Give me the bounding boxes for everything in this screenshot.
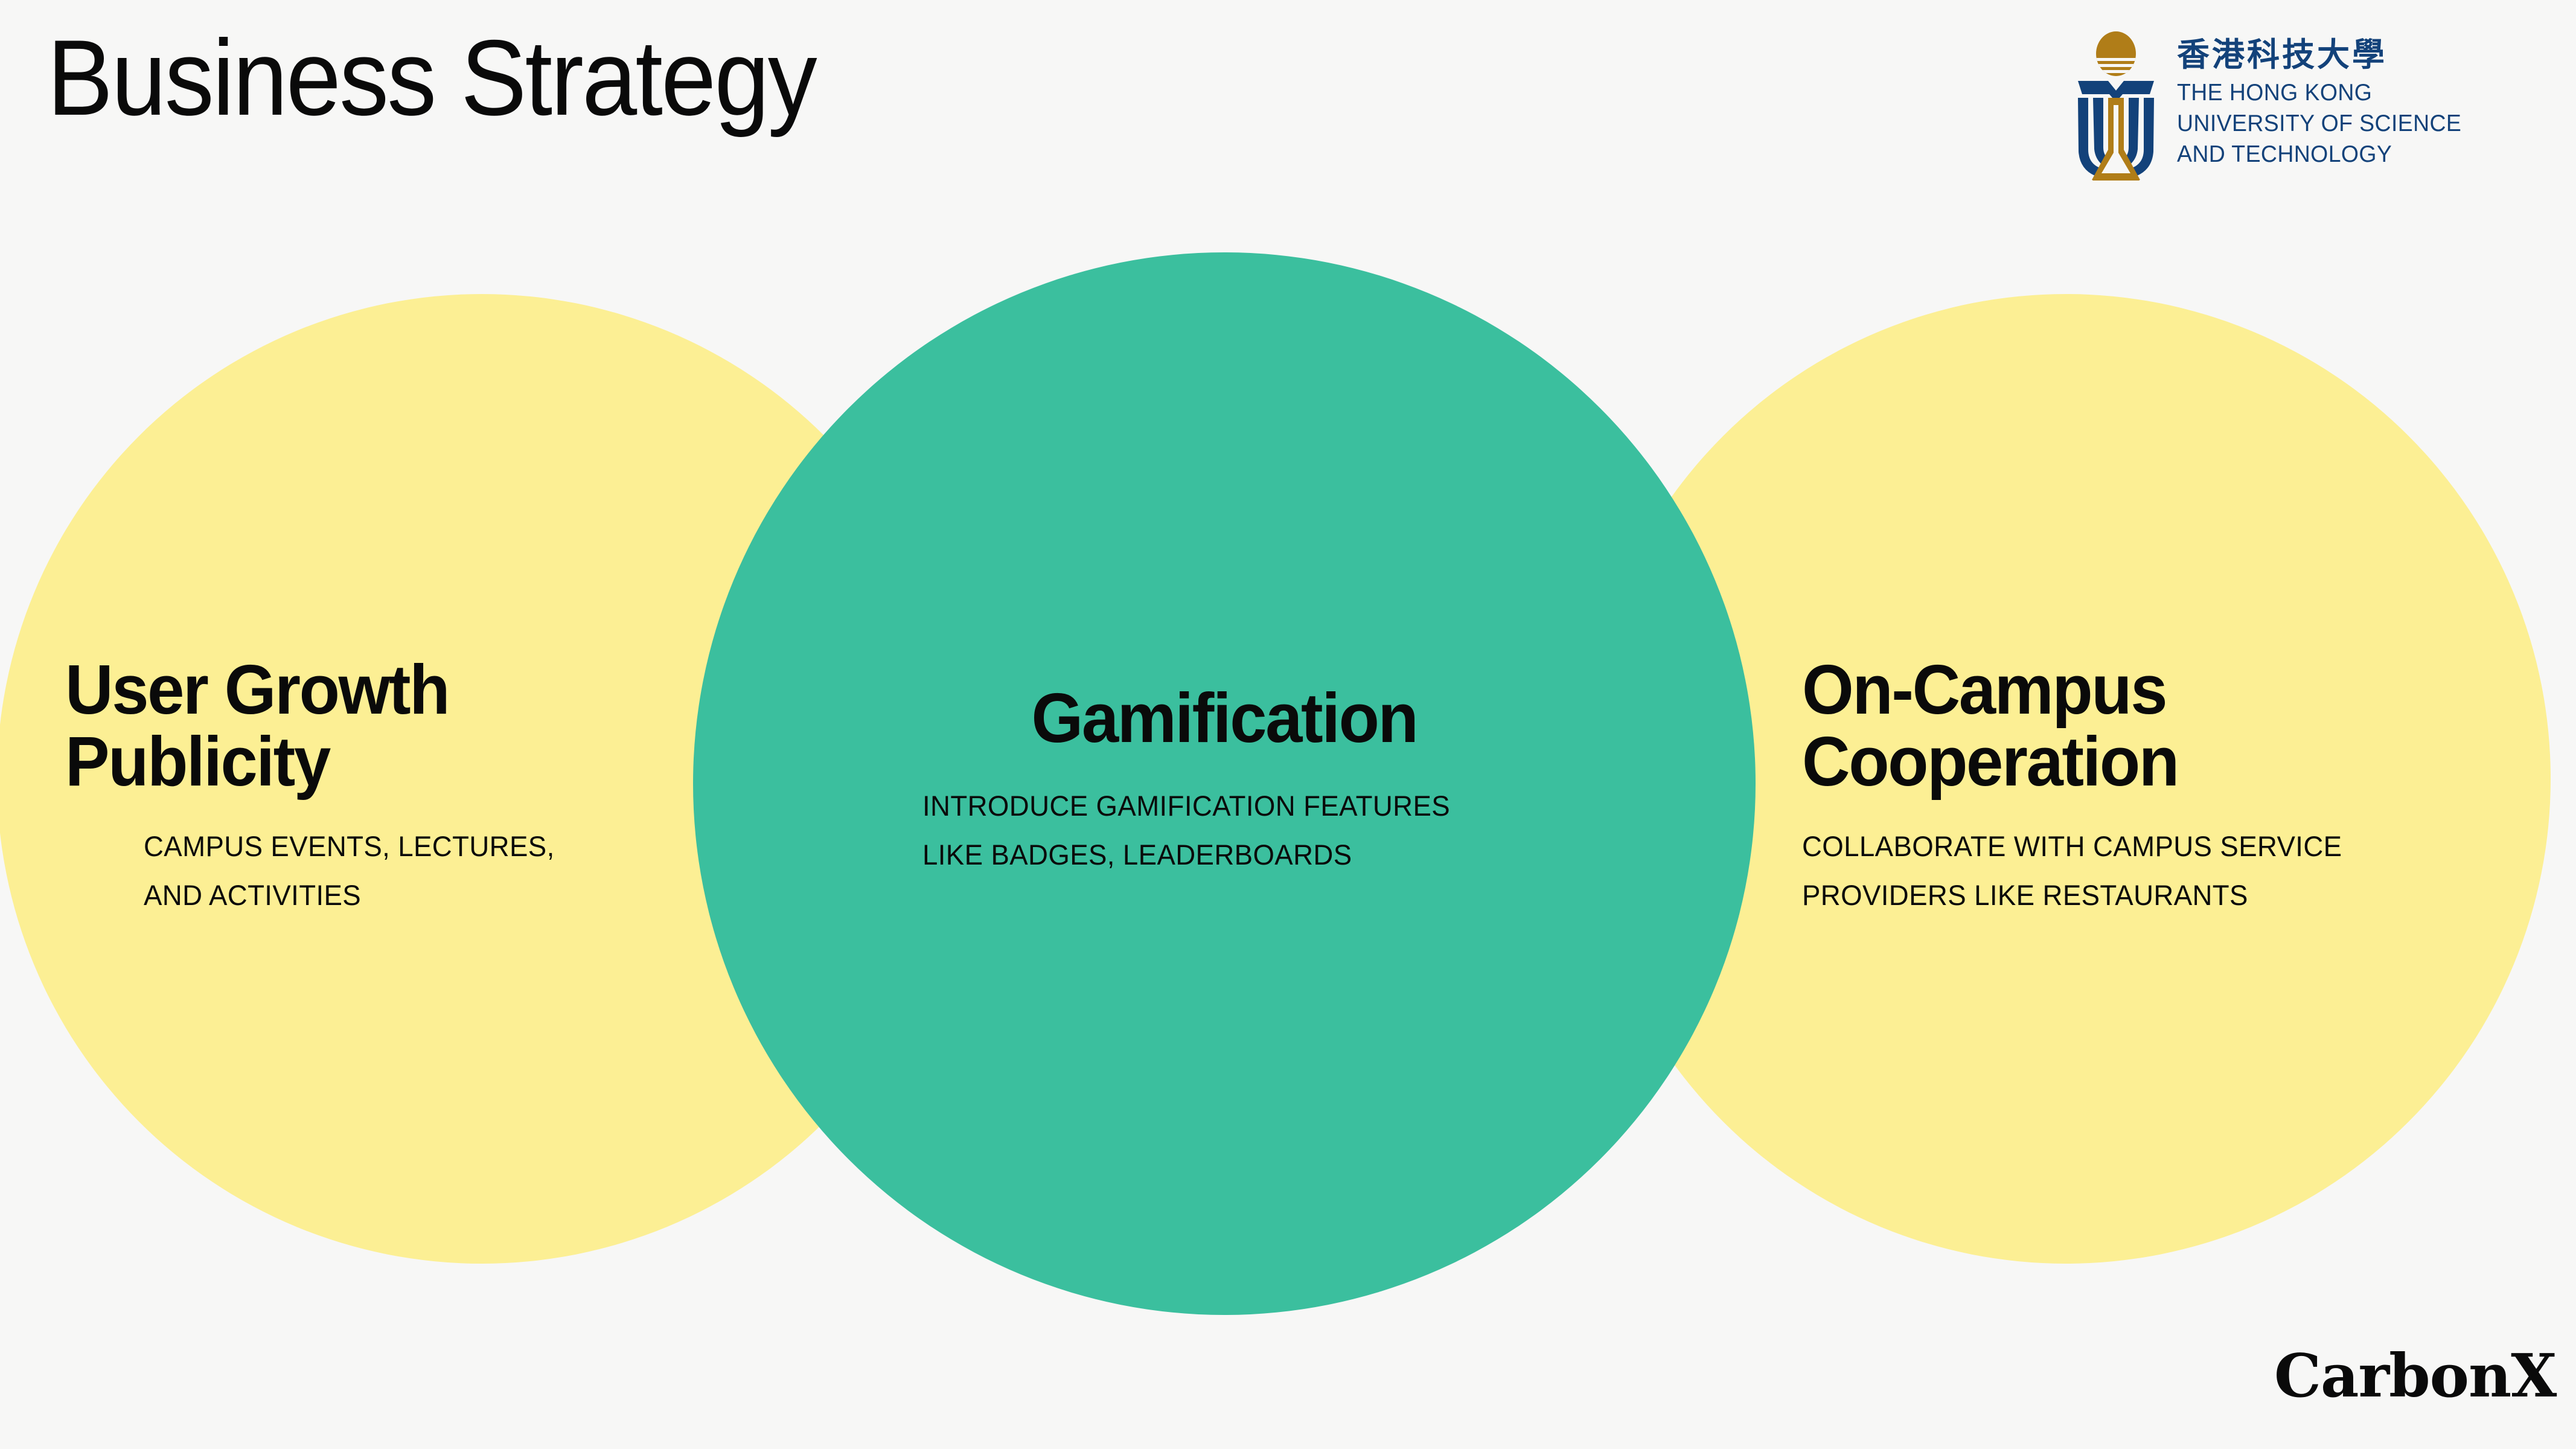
- venn-subtitle-gamification: INTRODUCE GAMIFICATION FEATURES LIKE BAD…: [922, 782, 1731, 880]
- hkust-english-line-1: THE HONG KONG: [2177, 78, 2461, 109]
- hkust-wordmark: 香港科技大學 THE HONG KONG UNIVERSITY OF SCIEN…: [2177, 31, 2473, 170]
- venn-heading-user-growth-publicity: User Growth Publicity: [65, 654, 753, 798]
- venn-heading-on-campus-cooperation: On-Campus Cooperation: [1802, 654, 2490, 798]
- venn-heading-gamification: Gamification: [720, 682, 1729, 754]
- venn-subtitle-on-campus-cooperation: COLLABORATE WITH CAMPUS SERVICE PROVIDER…: [1802, 822, 2505, 920]
- hkust-english-line-3: AND TECHNOLOGY: [2177, 139, 2461, 170]
- hkust-english-line-2: UNIVERSITY OF SCIENCE: [2177, 109, 2461, 139]
- venn-text-user-growth-publicity: User Growth Publicity CAMPUS EVENTS, LEC…: [65, 654, 790, 920]
- hkust-emblem-icon: [2071, 31, 2161, 185]
- venn-text-on-campus-cooperation: On-Campus Cooperation COLLABORATE WITH C…: [1802, 654, 2526, 920]
- slide-canvas: Business Strategy User Growth Publicity …: [0, 0, 2576, 1449]
- venn-subtitle-user-growth-publicity: CAMPUS EVENTS, LECTURES, AND ACTIVITIES: [144, 822, 770, 920]
- hkust-chinese-name: 香港科技大學: [2177, 37, 2473, 72]
- carbonx-brand-logo: CarbonX: [2274, 1342, 2556, 1411]
- venn-text-gamification: Gamification INTRODUCE GAMIFICATION FEAT…: [693, 682, 1756, 880]
- page-title: Business Strategy: [47, 23, 816, 133]
- hkust-logo: 香港科技大學 THE HONG KONG UNIVERSITY OF SCIEN…: [2071, 31, 2473, 185]
